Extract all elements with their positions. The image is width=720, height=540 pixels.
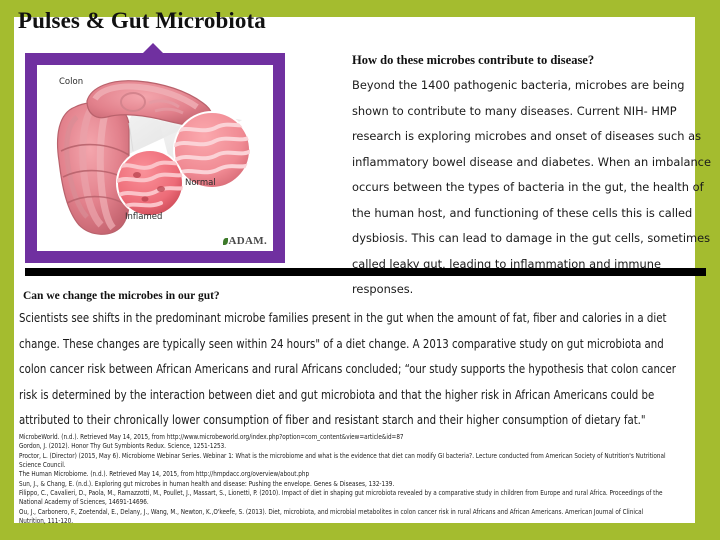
reference-item: Sun, J., & Chang, E. (n.d.). Exploring g… bbox=[19, 480, 670, 489]
reference-item: Filippo, C., Cavalieri, D., Paola, M., R… bbox=[19, 489, 670, 508]
reference-item: Ou, J., Carbonero, F., Zoetendal, E., De… bbox=[19, 508, 670, 527]
lower-text-section: Can we change the microbes in our gut? S… bbox=[19, 288, 689, 433]
image-card-inner: Colon Normal Inflamed ADAM. bbox=[37, 65, 273, 251]
page-title: Pulses & Gut Microbiota bbox=[18, 8, 266, 34]
reference-item: Proctor, L. (Director) (2015, May 6). Mi… bbox=[19, 452, 670, 471]
colon-illustration bbox=[37, 65, 273, 251]
figure-label-inflamed: Inflamed bbox=[125, 212, 162, 222]
slide-canvas: Pulses & Gut Microbiota bbox=[0, 0, 720, 540]
lower-section-body: Scientists see shifts in the predominant… bbox=[19, 305, 689, 433]
image-card-notch bbox=[142, 43, 164, 54]
reference-item: Gordon, J. (2012). Honor Thy Gut Symbion… bbox=[19, 442, 670, 451]
lower-section-heading: Can we change the microbes in our gut? bbox=[19, 288, 689, 304]
figure-label-colon: Colon bbox=[59, 77, 83, 87]
reference-item: The Human Microbiome. (n.d.). Retrieved … bbox=[19, 470, 670, 479]
references-list: MicrobeWorld. (n.d.). Retrieved May 14, … bbox=[19, 433, 670, 526]
figure-label-normal: Normal bbox=[185, 178, 216, 188]
section-divider bbox=[25, 268, 706, 276]
adam-watermark: ADAM. bbox=[223, 235, 267, 247]
adam-watermark-text: ADAM. bbox=[229, 235, 267, 247]
reference-item: MicrobeWorld. (n.d.). Retrieved May 14, … bbox=[19, 433, 670, 442]
image-card: Colon Normal Inflamed ADAM. bbox=[25, 53, 285, 263]
leaf-icon bbox=[223, 238, 228, 245]
right-column-heading: How do these microbes contribute to dise… bbox=[352, 50, 712, 70]
right-text-column: How do these microbes contribute to dise… bbox=[352, 50, 712, 303]
